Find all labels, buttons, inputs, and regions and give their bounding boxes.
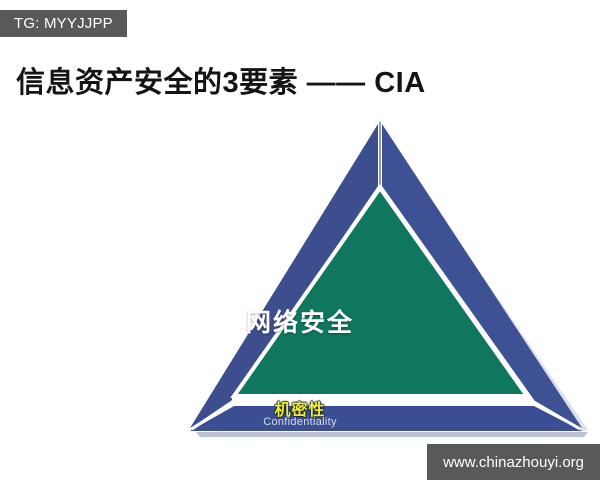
cia-triangle-graphic: [0, 0, 600, 480]
triangle-segment-bottom[interactable]: [190, 406, 582, 431]
watermark-url: www.chinazhouyi.org: [427, 444, 600, 480]
watermark-label: www.chinazhouyi.org: [443, 454, 584, 471]
cia-triangle-diagram: 网络安全 机密性 Confidentiality: [0, 0, 600, 480]
